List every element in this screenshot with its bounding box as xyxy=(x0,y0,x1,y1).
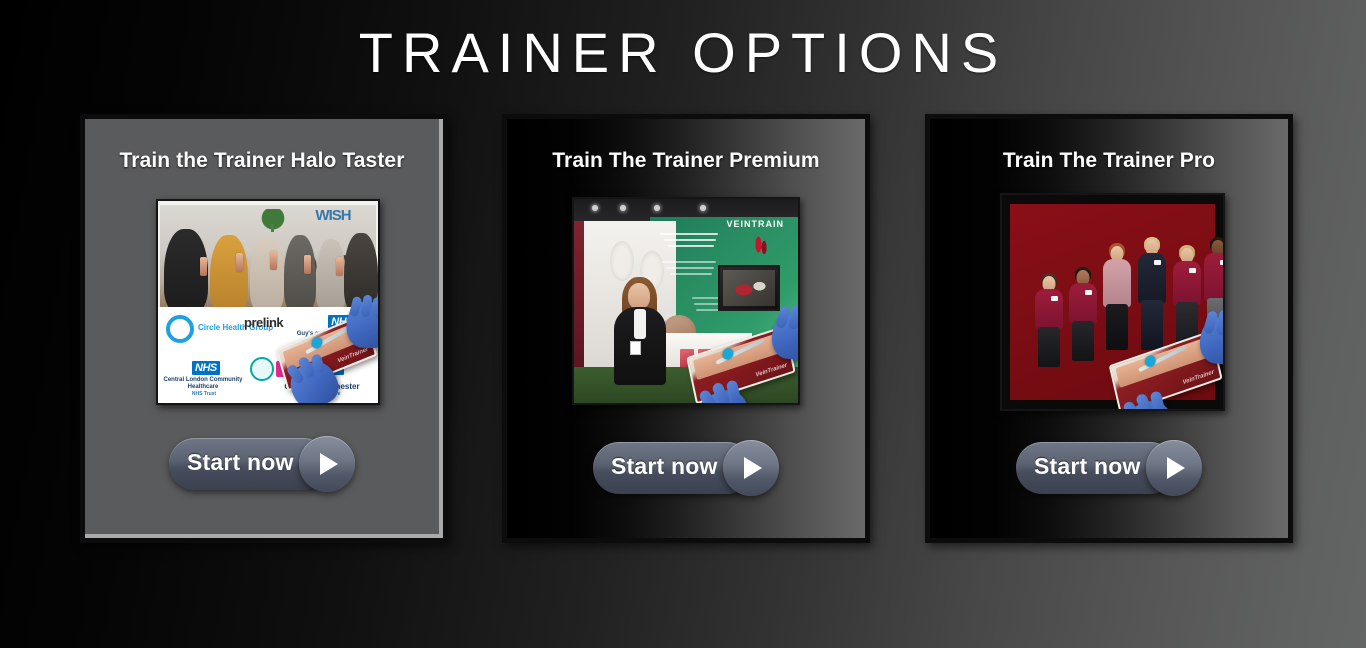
play-glyph xyxy=(320,453,338,475)
card-title-pro: Train The Trainer Pro xyxy=(930,119,1288,173)
training-tube xyxy=(270,251,277,270)
ceiling-spotlight xyxy=(592,205,598,211)
play-triangle-icon[interactable] xyxy=(299,436,355,492)
woodland-trust-logo-icon xyxy=(256,209,290,233)
card-title-halo-taster: Train the Trainer Halo Taster xyxy=(85,119,439,173)
ceiling-spotlight xyxy=(654,205,660,211)
wall-oval-cutout xyxy=(610,241,634,281)
start-now-button-pro[interactable]: Start now xyxy=(1016,440,1202,496)
nhs-logo-clch: NHS xyxy=(192,361,220,375)
card-image-halo-taster: WISH Circle Health Group prelink NHS Guy… xyxy=(156,199,380,405)
ceiling-spotlight xyxy=(700,205,706,211)
blue-glove-right-icon xyxy=(346,301,380,348)
member-uniform xyxy=(1035,289,1063,329)
trainer-option-card-premium[interactable]: Train The Trainer Premium xyxy=(502,114,870,543)
exhibition-booth-image: VEINTRAIN xyxy=(574,199,798,403)
member-uniform xyxy=(1103,259,1131,307)
play-glyph xyxy=(744,457,762,479)
presenter-shirt xyxy=(634,309,646,339)
trainer-option-card-pro[interactable]: Train The Trainer Pro xyxy=(925,114,1293,543)
member-legs xyxy=(1072,321,1094,361)
member-name-badge xyxy=(1085,290,1092,295)
booth-display-screen xyxy=(718,265,780,311)
start-now-label: Start now xyxy=(1034,453,1141,480)
training-tube xyxy=(236,253,243,272)
play-triangle-icon[interactable] xyxy=(723,440,779,496)
member-name-badge xyxy=(1154,260,1161,265)
arabic-text-line xyxy=(668,245,714,247)
training-tube xyxy=(336,257,343,276)
start-now-button-premium[interactable]: Start now xyxy=(593,440,779,496)
ceiling-spotlight xyxy=(620,205,626,211)
glove-finger xyxy=(373,297,380,317)
person-figure xyxy=(210,235,248,313)
member-legs xyxy=(1038,327,1060,367)
page-title: TRAINER OPTIONS xyxy=(0,0,1366,81)
veintrainer-brand-label: VeinTrainer xyxy=(1182,369,1214,386)
veintrain-banner-label: VEINTRAIN xyxy=(726,219,784,229)
team-member xyxy=(1032,276,1066,368)
logo-collage-image: WISH Circle Health Group prelink NHS Guy… xyxy=(158,201,378,403)
play-triangle-icon[interactable] xyxy=(1146,440,1202,496)
photo-frame: VeinTrainer xyxy=(1000,193,1225,411)
card-title-premium: Train The Trainer Premium xyxy=(507,119,865,173)
circle-health-logo-icon xyxy=(166,315,194,343)
arabic-text-line xyxy=(662,261,716,263)
card-body: Train the Trainer Halo Taster xyxy=(85,119,443,538)
member-uniform xyxy=(1173,261,1201,305)
card-body: Train The Trainer Premium xyxy=(507,119,865,538)
member-uniform xyxy=(1138,253,1166,303)
member-uniform xyxy=(1069,283,1097,323)
start-now-button-halo-taster[interactable]: Start now xyxy=(169,436,355,492)
trainer-option-card-halo-taster[interactable]: Train the Trainer Halo Taster xyxy=(80,114,448,543)
team-member xyxy=(1066,270,1100,366)
card-body: Train The Trainer Pro xyxy=(930,119,1288,538)
arabic-text-line xyxy=(666,267,714,269)
member-name-badge xyxy=(1051,296,1058,301)
start-now-label: Start now xyxy=(611,453,718,480)
person-figure xyxy=(250,237,284,313)
veintrainer-brand-label: VeinTrainer xyxy=(755,363,788,379)
trainer-options-card-row: Train the Trainer Halo Taster xyxy=(0,114,1366,544)
training-tube xyxy=(200,257,207,276)
wish-logo: WISH xyxy=(294,206,372,232)
central-london-label: Central London Community Healthcare xyxy=(160,377,246,391)
presenter-head xyxy=(628,283,650,309)
card-image-pro: VeinTrainer xyxy=(1000,193,1225,411)
person-figure xyxy=(316,239,346,313)
gm-nhs-badge-icon xyxy=(250,357,274,381)
photo-frame: WISH Circle Health Group prelink NHS Guy… xyxy=(156,199,380,405)
member-name-badge xyxy=(1189,268,1196,273)
play-glyph xyxy=(1167,457,1185,479)
clch-trust-sub-label: NHS Trust xyxy=(178,391,230,398)
start-now-label: Start now xyxy=(187,449,294,476)
member-name-badge xyxy=(1220,260,1225,265)
card-image-premium: VEINTRAIN xyxy=(572,197,800,405)
photo-frame: VEINTRAIN xyxy=(572,197,800,405)
arabic-text-line xyxy=(670,273,712,275)
veintrain-logo-icon xyxy=(748,231,774,261)
arabic-text-line xyxy=(664,239,716,241)
person-figure xyxy=(284,235,316,313)
arabic-text-line xyxy=(660,233,718,235)
training-tube xyxy=(304,255,311,274)
presenter-lanyard-badge xyxy=(630,341,641,355)
team-group-photo-image: VeinTrainer xyxy=(1002,195,1223,409)
glove-finger xyxy=(361,294,373,317)
